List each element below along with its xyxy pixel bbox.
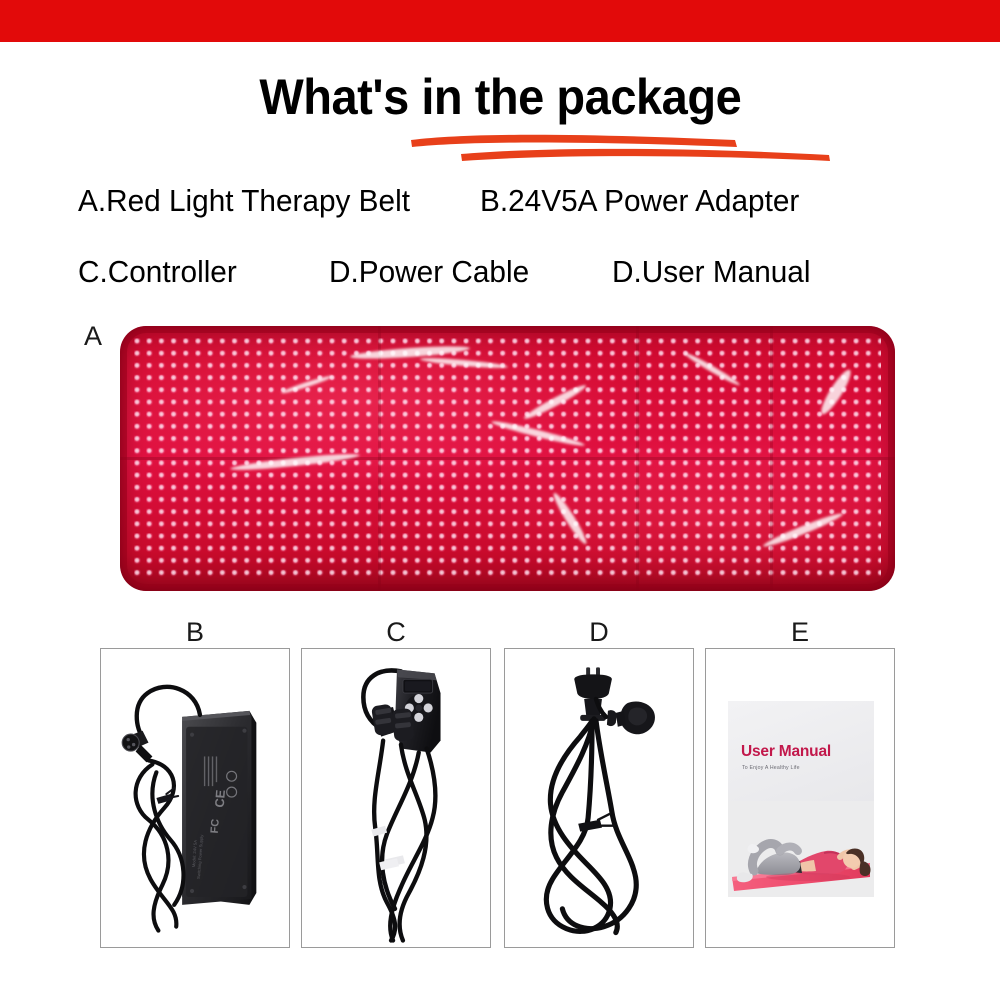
marker-label-e: E [705, 617, 895, 648]
product-box-user-manual: User Manual To Enjoy A Healthy Life [705, 648, 895, 948]
top-red-banner [0, 0, 1000, 42]
product-image-adapter: CE FC Switching Power Supply Model: 24V … [101, 649, 289, 947]
marker-label-c: C [301, 617, 491, 648]
caption-row-1: A.Red Light Therapy BeltB.24V5A Power Ad… [78, 183, 938, 219]
caption-row-2: C.ControllerD.Power CableD.User Manual [78, 254, 938, 290]
page-title-container: What's in the package [0, 72, 1000, 122]
manual-cover-title: User Manual [741, 743, 831, 761]
manual-cover-photo [728, 801, 874, 897]
product-box-power-cable [504, 648, 694, 948]
product-image-user-manual: User Manual To Enjoy A Healthy Life [728, 701, 874, 897]
product-box-adapter: CE FC Switching Power Supply Model: 24V … [100, 648, 290, 948]
svg-text:FC: FC [209, 818, 222, 833]
product-image-power-cable [505, 649, 693, 947]
caption-item-d: D.Power Cable [329, 254, 529, 290]
svg-text:CE: CE [212, 789, 228, 808]
manual-cover-subtitle: To Enjoy A Healthy Life [742, 765, 800, 771]
product-image-belt [120, 326, 895, 591]
title-underline-icon [405, 128, 835, 164]
belt-border [120, 326, 895, 591]
page-title: What's in the package [259, 72, 741, 122]
caption-item-a: A.Red Light Therapy Belt [78, 183, 410, 219]
caption-item-b: B.24V5A Power Adapter [480, 183, 799, 219]
caption-item-c: C.Controller [78, 254, 237, 290]
marker-label-d: D [504, 617, 694, 648]
caption-item-e: D.User Manual [612, 254, 810, 290]
product-image-controller [302, 649, 490, 947]
marker-label-b: B [100, 617, 290, 648]
marker-label-a: A [84, 321, 102, 352]
product-box-controller [301, 648, 491, 948]
